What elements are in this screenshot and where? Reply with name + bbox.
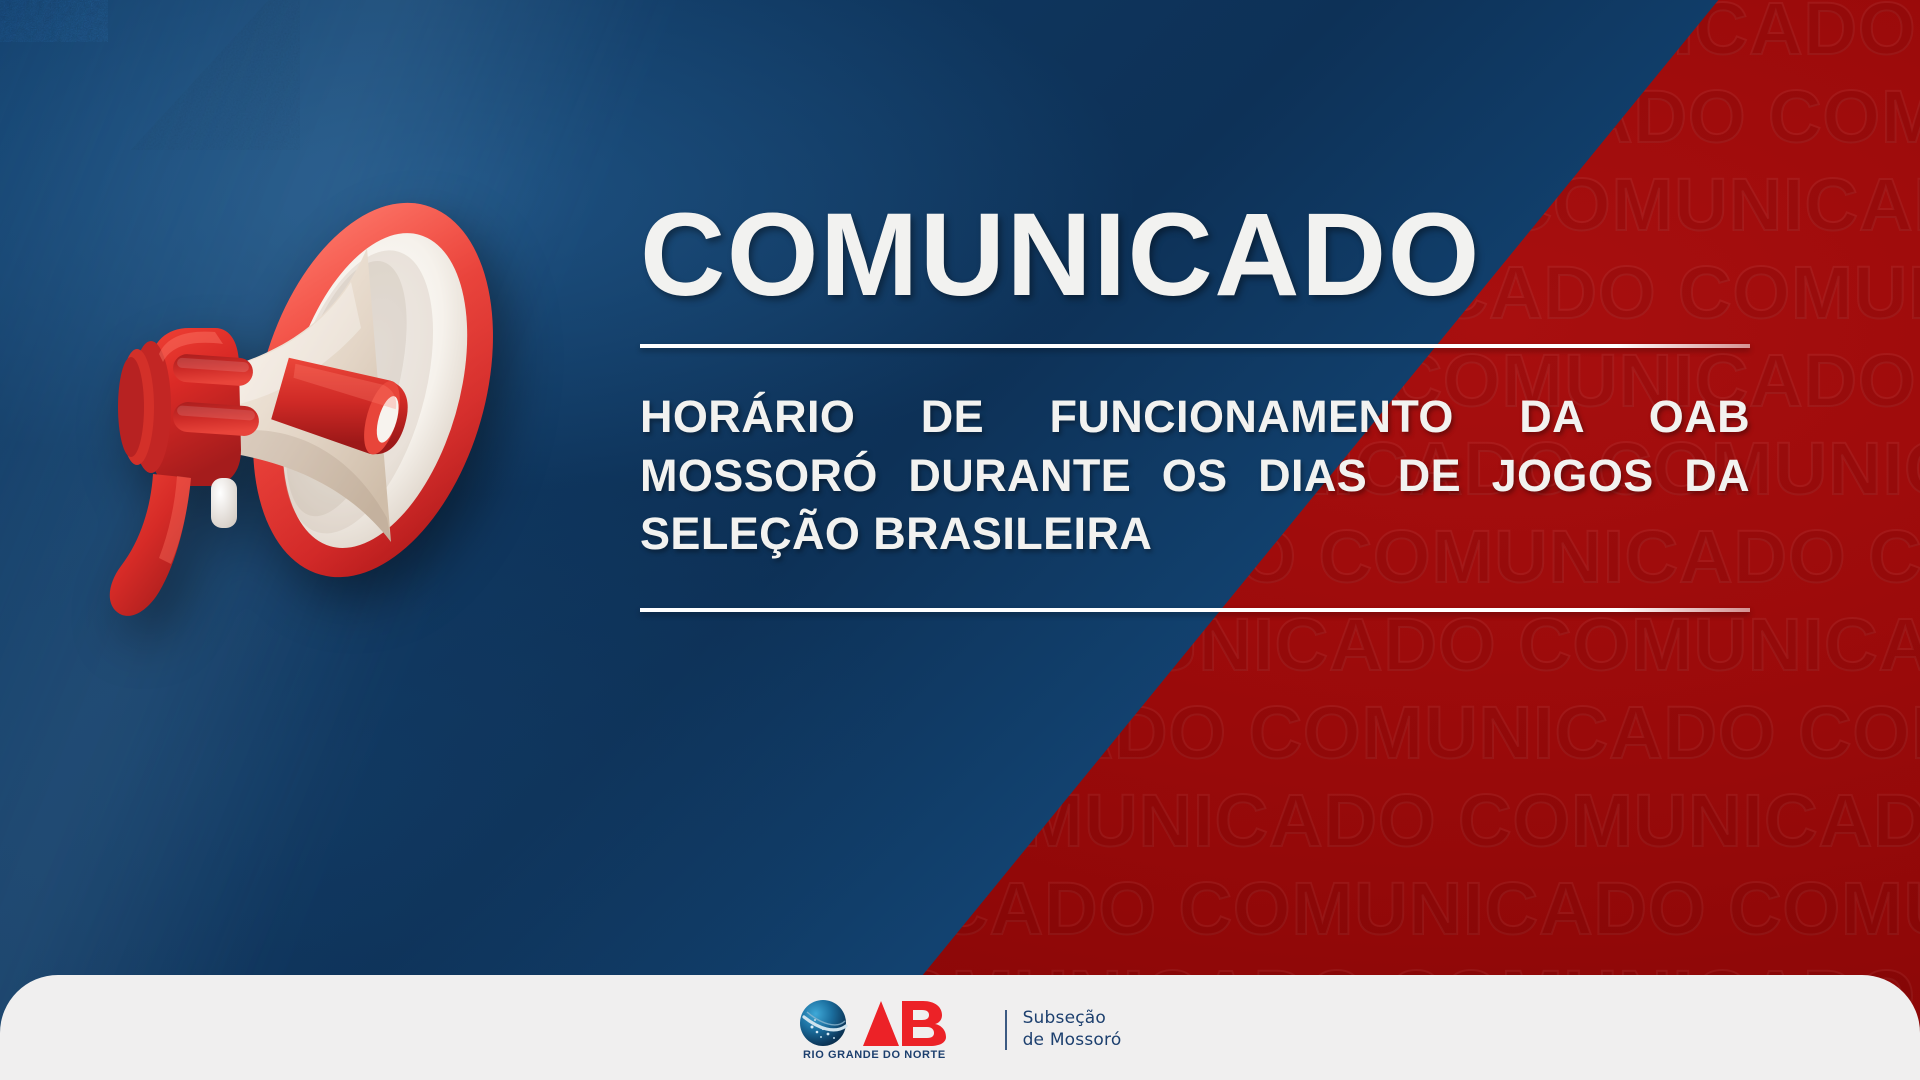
- title-divider-bottom: [640, 608, 1750, 612]
- logo-letter-a: [863, 1001, 899, 1046]
- title-divider-top: [640, 344, 1750, 348]
- logo-divider: [1005, 1010, 1007, 1050]
- oab-logo-lockup: RIO GRANDE DO NORTE Subseção de Mossoró: [799, 999, 1122, 1061]
- poster-canvas: COMUNICADO COMUNICADO COMUNICADO COMUNIC…: [0, 0, 1920, 1080]
- poster-subtitle: HORÁRIO DE FUNCIONAMENTO DA OAB MOSSORÓ …: [640, 388, 1750, 564]
- globe-icon: [800, 1000, 846, 1046]
- subsection-line-2: de Mossoró: [1023, 1030, 1122, 1052]
- page-title: COMUNICADO: [640, 196, 1750, 314]
- oab-logo: RIO GRANDE DO NORTE: [799, 999, 989, 1061]
- logo-section-label: RIO GRANDE DO NORTE: [803, 1049, 946, 1061]
- poster-text-block: COMUNICADO HORÁRIO DE FUNCIONAMENTO DA O…: [640, 196, 1750, 612]
- subsection-line-1: Subseção: [1023, 1008, 1122, 1030]
- footer-bar: RIO GRANDE DO NORTE Subseção de Mossoró: [0, 975, 1920, 1080]
- megaphone-icon: [55, 178, 525, 638]
- subsection-label: Subseção de Mossoró: [1023, 1008, 1122, 1052]
- logo-letter-b: [902, 1001, 946, 1046]
